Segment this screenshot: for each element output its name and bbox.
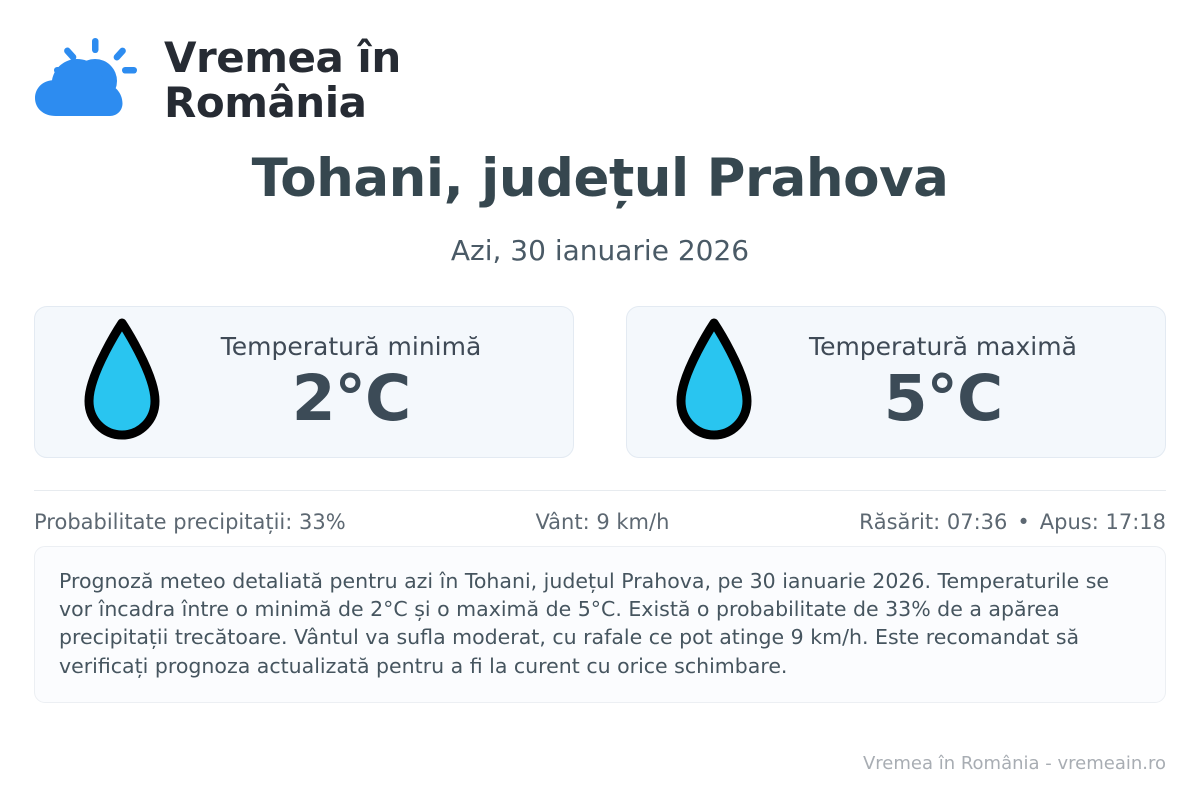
brand-header: Vremea în România xyxy=(34,0,1166,112)
weather-page: Vremea în România Tohani, județul Prahov… xyxy=(0,0,1200,800)
sun-times-separator: • xyxy=(1017,510,1029,534)
min-temperature-text: Temperatură minimă 2°C xyxy=(179,332,563,432)
precipitation-stat: Probabilitate precipitații: 33% xyxy=(34,510,346,534)
footer-credit: Vremea în România - vremeain.ro xyxy=(863,753,1166,774)
sun-behind-cloud-icon xyxy=(34,38,146,122)
weather-stats-row: Probabilitate precipitații: 33% Vânt: 9 … xyxy=(34,490,1166,534)
min-temperature-value: 2°C xyxy=(179,366,523,432)
max-temperature-value: 5°C xyxy=(771,366,1115,432)
wind-stat: Vânt: 9 km/h xyxy=(346,510,859,534)
title-block: Tohani, județul Prahova Azi, 30 ianuarie… xyxy=(34,150,1166,268)
min-temperature-card: Temperatură minimă 2°C xyxy=(34,306,574,458)
max-temperature-label: Temperatură maximă xyxy=(771,332,1115,362)
sunrise-value: Răsărit: 07:36 xyxy=(859,510,1007,534)
min-temperature-label: Temperatură minimă xyxy=(179,332,523,362)
forecast-description: Prognoză meteo detaliată pentru azi în T… xyxy=(34,546,1166,703)
sunset-value: Apus: 17:18 xyxy=(1040,510,1166,534)
sun-times-stat: Răsărit: 07:36•Apus: 17:18 xyxy=(859,510,1166,534)
max-temperature-text: Temperatură maximă 5°C xyxy=(771,332,1155,432)
brand-name: Vremea în România xyxy=(164,35,401,126)
page-date-subtitle: Azi, 30 ianuarie 2026 xyxy=(34,234,1166,268)
water-drop-icon xyxy=(79,317,165,447)
page-title: Tohani, județul Prahova xyxy=(34,150,1166,208)
max-temperature-card: Temperatură maximă 5°C xyxy=(626,306,1166,458)
temperature-cards: Temperatură minimă 2°C Temperatură maxim… xyxy=(34,306,1166,458)
water-drop-icon xyxy=(671,317,757,447)
